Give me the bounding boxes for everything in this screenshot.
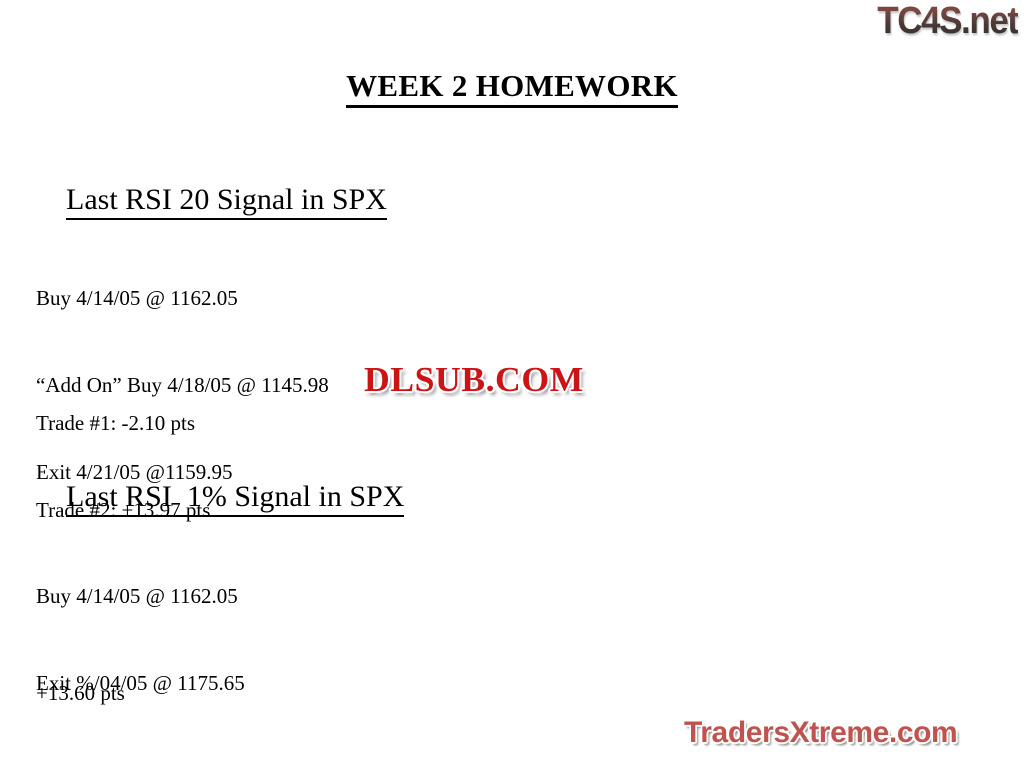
- list-item: Buy 4/14/05 @ 1162.05: [36, 284, 329, 313]
- page-title: WEEK 2 HOMEWORK: [0, 68, 1024, 108]
- list-item: +13.60 pts: [36, 679, 125, 708]
- slide-canvas: TC4S.net WEEK 2 HOMEWORK Last RSI 20 Sig…: [0, 0, 1024, 768]
- rsi-1pct-results-list: +13.60 pts: [36, 621, 125, 766]
- list-item: Buy 4/14/05 @ 1162.05: [36, 582, 245, 611]
- page-title-text: WEEK 2 HOMEWORK: [346, 68, 678, 108]
- section-heading-rsi-20-text: Last RSI 20 Signal in SPX: [66, 182, 387, 219]
- dlsub-watermark: DLSUB.COM: [364, 361, 584, 400]
- section-heading-rsi-1pct-text: Last RSI 1% Signal in SPX: [66, 479, 404, 516]
- tradersxtreme-footer-logo: TradersXtreme.com: [684, 716, 957, 749]
- tc4s-brand-logo: TC4S.net: [878, 2, 1018, 42]
- list-item: Trade #1: -2.10 pts: [36, 409, 210, 438]
